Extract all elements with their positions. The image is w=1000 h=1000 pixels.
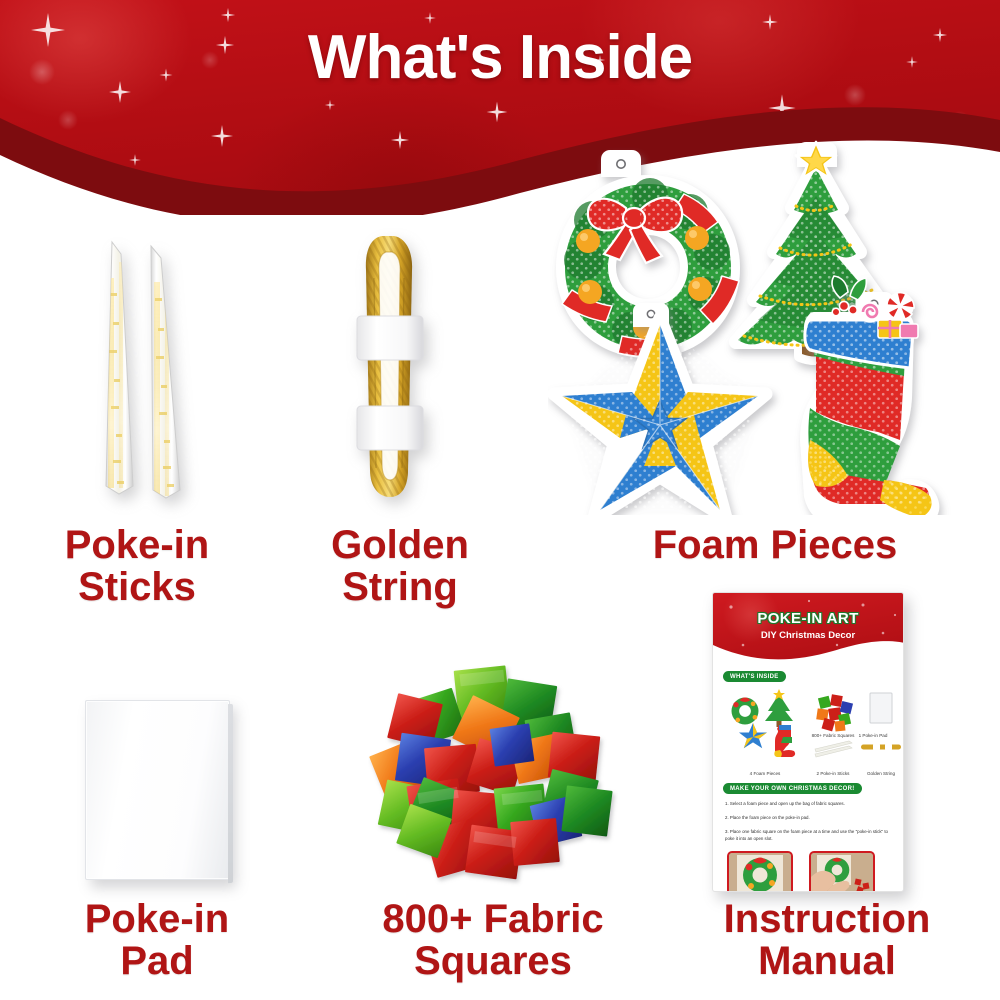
- golden-string-label: Golden String: [280, 524, 520, 608]
- label-instruction-manual: Instruction Manual: [672, 898, 982, 982]
- label-foam-pieces: Foam Pieces: [600, 524, 950, 566]
- manual-header: POKE-IN ART DIY Christmas Decor: [713, 593, 903, 665]
- manual-subtitle: DIY Christmas Decor: [713, 630, 903, 641]
- instruction-manual-illustration: POKE-IN ART DIY Christmas Decor WHAT'S I…: [712, 592, 904, 892]
- poke-in-pad-label: Poke-in Pad: [22, 898, 292, 982]
- manual-step-2: 2. Place the foam piece on the poke-in p…: [725, 815, 895, 822]
- poke-in-pad-body: [85, 700, 230, 880]
- manual-caption-foam: 4 Foam Pieces: [735, 771, 795, 776]
- foam-pieces-label: Foam Pieces: [600, 524, 950, 566]
- manual-step-1: 1. Select a foam piece and open up the b…: [725, 801, 895, 808]
- fabric-squares-label: 800+ Fabric Squares: [328, 898, 658, 982]
- instruction-manual-label: Instruction Manual: [672, 898, 982, 982]
- manual-caption-pad: 1 Poke-in Pad: [843, 733, 903, 738]
- poke-in-pad-illustration: [85, 700, 230, 880]
- label-fabric-squares: 800+ Fabric Squares: [328, 898, 658, 982]
- manual-whats-inside-badge: WHAT'S INSIDE: [723, 671, 786, 682]
- manual-caption-string: Golden String: [851, 771, 904, 776]
- manual-header-sparkles: [713, 593, 903, 665]
- poke-in-sticks-illustration: [75, 238, 245, 513]
- label-golden-string: Golden String: [280, 524, 520, 608]
- golden-string-illustration: [348, 218, 453, 508]
- manual-page: POKE-IN ART DIY Christmas Decor WHAT'S I…: [712, 592, 904, 892]
- finished-wreath-photo: [727, 851, 793, 892]
- page-title: What's Inside: [0, 22, 1000, 93]
- manual-logo: POKE-IN ART: [713, 610, 903, 627]
- foam-ornaments-illustration: [548, 140, 993, 515]
- label-poke-in-pad: Poke-in Pad: [22, 898, 292, 982]
- poke-in-sticks-label: Poke-in Sticks: [22, 524, 252, 608]
- fabric-squares-illustration: [368, 660, 618, 895]
- hands-poking-wreath-photo: [809, 851, 875, 892]
- manual-make-badge: MAKE YOUR OWN CHRISTMAS DECOR!: [723, 783, 862, 794]
- manual-step-3: 3. Place one fabric square on the foam p…: [725, 829, 895, 842]
- label-poke-in-sticks: Poke-in Sticks: [22, 524, 252, 608]
